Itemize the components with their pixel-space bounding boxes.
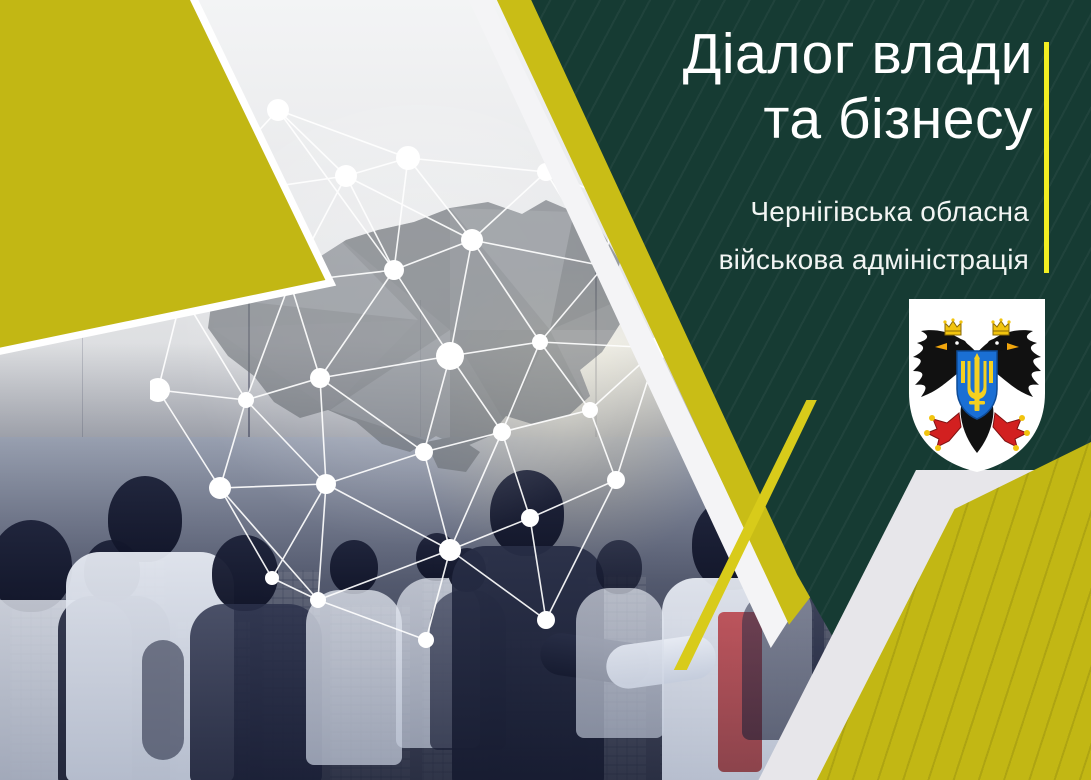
inner-shield bbox=[957, 351, 997, 419]
network-node bbox=[582, 402, 598, 418]
network-node bbox=[461, 229, 483, 251]
network-node bbox=[493, 423, 511, 441]
subtitle-line-2: військова адміністрація bbox=[559, 236, 1029, 284]
network-node bbox=[209, 477, 231, 499]
page-subtitle: Чернігівська обласна військова адміністр… bbox=[559, 188, 1029, 284]
coat-of-arms-chernihiv bbox=[903, 297, 1051, 474]
network-node bbox=[238, 392, 254, 408]
title-line-2: та бізнесу bbox=[563, 87, 1033, 152]
poster-canvas: Діалог влади та бізнесу Чернігівська обл… bbox=[0, 0, 1091, 780]
network-node bbox=[316, 474, 336, 494]
network-node bbox=[310, 368, 330, 388]
title-line-1: Діалог влади bbox=[563, 22, 1033, 87]
network-node bbox=[265, 571, 279, 585]
page-title: Діалог влади та бізнесу bbox=[563, 22, 1033, 152]
network-node bbox=[150, 378, 170, 402]
network-node bbox=[537, 611, 555, 629]
network-node bbox=[521, 509, 539, 527]
network-node bbox=[335, 165, 357, 187]
network-node bbox=[267, 99, 289, 121]
network-node bbox=[439, 539, 461, 561]
network-node bbox=[607, 471, 625, 489]
network-node bbox=[396, 146, 420, 170]
subtitle-line-1: Чернігівська обласна bbox=[559, 188, 1029, 236]
network-node bbox=[310, 592, 326, 608]
network-node bbox=[532, 334, 548, 350]
yellow-accent-line bbox=[1044, 42, 1049, 273]
network-node bbox=[415, 443, 433, 461]
network-node bbox=[436, 342, 464, 370]
network-node bbox=[418, 632, 434, 648]
network-node bbox=[384, 260, 404, 280]
